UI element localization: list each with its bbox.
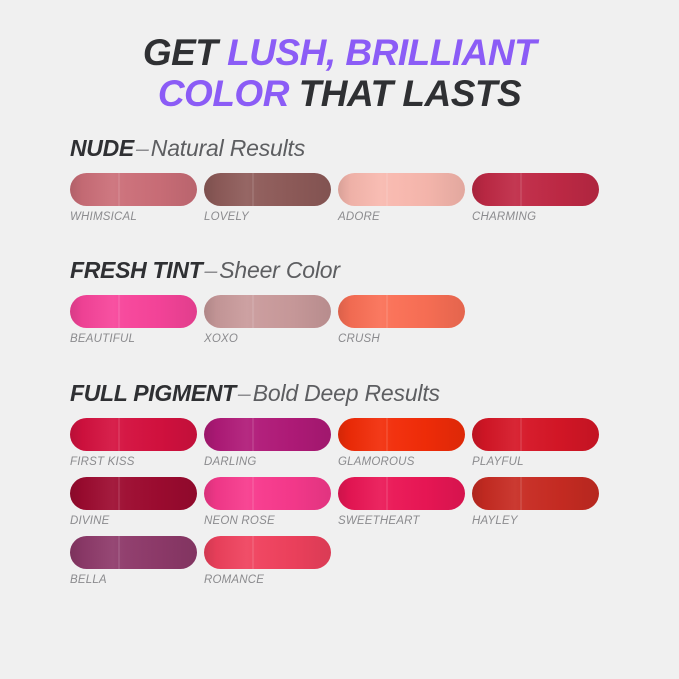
swatch-cell[interactable]: BELLA — [70, 536, 204, 586]
section-nude: NUDE–Natural Results WHIMSICAL LOVELY AD… — [70, 137, 659, 232]
swatch-label-glamorous: GLAMOROUS — [338, 456, 472, 468]
section-nude-title: NUDE–Natural Results — [70, 137, 659, 160]
swatch-cell[interactable]: GLAMOROUS — [338, 418, 472, 468]
swatch-color-romance[interactable] — [204, 536, 331, 569]
swatch-color-sweetheart[interactable] — [338, 477, 465, 510]
swatch-seam — [252, 418, 254, 451]
swatch-seam — [520, 477, 522, 510]
swatch-cell[interactable]: XOXO — [204, 295, 338, 345]
swatch-seam — [118, 536, 120, 569]
swatch-label-adore: ADORE — [338, 211, 472, 223]
swatch-cell[interactable]: ROMANCE — [204, 536, 338, 586]
swatch-label-hayley: HAYLEY — [472, 515, 606, 527]
swatch-cell[interactable]: FIRST KISS — [70, 418, 204, 468]
swatch-label-sweetheart: SWEETHEART — [338, 515, 472, 527]
headline-line-2: COLOR THAT LASTS — [0, 73, 679, 114]
swatch-cell[interactable]: CHARMING — [472, 173, 606, 223]
swatch-color-xoxo[interactable] — [204, 295, 331, 328]
lipstick-shade-chart: GET LUSH, BRILLIANT COLOR THAT LASTS NUD… — [0, 0, 679, 679]
section-full-pigment: FULL PIGMENT–Bold Deep Results FIRST KIS… — [70, 382, 659, 595]
swatch-label-romance: ROMANCE — [204, 574, 338, 586]
swatch-seam — [118, 295, 120, 328]
swatch-cell[interactable]: HAYLEY — [472, 477, 606, 527]
swatch-color-divine[interactable] — [70, 477, 197, 510]
section-nude-category: NUDE — [70, 135, 134, 161]
swatch-color-lovely[interactable] — [204, 173, 331, 206]
swatch-label-bella: BELLA — [70, 574, 204, 586]
section-nude-swatches: WHIMSICAL LOVELY ADORE CHARMING — [70, 173, 659, 232]
swatch-color-first-kiss[interactable] — [70, 418, 197, 451]
swatch-seam — [386, 418, 388, 451]
headline-line-1: GET LUSH, BRILLIANT — [0, 32, 679, 73]
swatch-seam — [520, 418, 522, 451]
swatch-cell[interactable]: SWEETHEART — [338, 477, 472, 527]
section-full-pigment-swatches: FIRST KISS DARLING GLAMOROUS PLAYFUL DIV… — [70, 418, 659, 595]
swatch-label-playful: PLAYFUL — [472, 456, 606, 468]
section-fresh-tint: FRESH TINT–Sheer Color BEAUTIFUL XOXO CR… — [70, 259, 659, 354]
swatch-label-lovely: LOVELY — [204, 211, 338, 223]
swatch-color-darling[interactable] — [204, 418, 331, 451]
swatch-label-crush: CRUSH — [338, 333, 472, 345]
headline-line1-part2: LUSH, BRILLIANT — [227, 32, 536, 73]
headline-line1-part1: GET — [143, 32, 227, 73]
swatch-cell[interactable]: BEAUTIFUL — [70, 295, 204, 345]
section-full-pigment-category: FULL PIGMENT — [70, 380, 236, 406]
swatch-color-glamorous[interactable] — [338, 418, 465, 451]
swatch-label-divine: DIVINE — [70, 515, 204, 527]
section-fresh-tint-dash: – — [202, 257, 219, 283]
headline-line2-part1: COLOR — [158, 73, 299, 114]
swatch-cell[interactable]: DIVINE — [70, 477, 204, 527]
swatch-seam — [386, 295, 388, 328]
swatch-cell[interactable]: DARLING — [204, 418, 338, 468]
swatch-seam — [386, 477, 388, 510]
swatch-seam — [386, 173, 388, 206]
swatch-label-darling: DARLING — [204, 456, 338, 468]
swatch-seam — [252, 536, 254, 569]
swatch-color-neon-rose[interactable] — [204, 477, 331, 510]
swatch-label-neon-rose: NEON ROSE — [204, 515, 338, 527]
swatch-cell[interactable]: ADORE — [338, 173, 472, 223]
section-fresh-tint-swatches: BEAUTIFUL XOXO CRUSH — [70, 295, 659, 354]
section-nude-dash: – — [134, 135, 151, 161]
section-full-pigment-dash: – — [236, 380, 253, 406]
swatch-color-hayley[interactable] — [472, 477, 599, 510]
swatch-label-whimsical: WHIMSICAL — [70, 211, 204, 223]
swatch-color-charming[interactable] — [472, 173, 599, 206]
swatch-seam — [118, 173, 120, 206]
swatch-cell[interactable]: PLAYFUL — [472, 418, 606, 468]
section-fresh-tint-category: FRESH TINT — [70, 257, 202, 283]
section-nude-description: Natural Results — [151, 135, 305, 161]
swatch-seam — [252, 295, 254, 328]
swatch-seam — [252, 477, 254, 510]
swatch-label-beautiful: BEAUTIFUL — [70, 333, 204, 345]
shade-sections: NUDE–Natural Results WHIMSICAL LOVELY AD… — [0, 137, 679, 595]
swatch-label-xoxo: XOXO — [204, 333, 338, 345]
swatch-seam — [118, 477, 120, 510]
swatch-cell[interactable]: WHIMSICAL — [70, 173, 204, 223]
swatch-color-whimsical[interactable] — [70, 173, 197, 206]
page-headline: GET LUSH, BRILLIANT COLOR THAT LASTS — [0, 0, 679, 115]
section-full-pigment-description: Bold Deep Results — [253, 380, 440, 406]
swatch-color-beautiful[interactable] — [70, 295, 197, 328]
swatch-seam — [118, 418, 120, 451]
swatch-seam — [520, 173, 522, 206]
swatch-color-playful[interactable] — [472, 418, 599, 451]
swatch-label-first-kiss: FIRST KISS — [70, 456, 204, 468]
swatch-cell[interactable]: LOVELY — [204, 173, 338, 223]
headline-line2-part2: THAT LASTS — [299, 73, 521, 114]
swatch-cell[interactable]: CRUSH — [338, 295, 472, 345]
swatch-cell[interactable]: NEON ROSE — [204, 477, 338, 527]
swatch-color-crush[interactable] — [338, 295, 465, 328]
swatch-color-bella[interactable] — [70, 536, 197, 569]
swatch-color-adore[interactable] — [338, 173, 465, 206]
section-fresh-tint-description: Sheer Color — [219, 257, 340, 283]
section-fresh-tint-title: FRESH TINT–Sheer Color — [70, 259, 659, 282]
section-full-pigment-title: FULL PIGMENT–Bold Deep Results — [70, 382, 659, 405]
swatch-seam — [252, 173, 254, 206]
swatch-label-charming: CHARMING — [472, 211, 606, 223]
